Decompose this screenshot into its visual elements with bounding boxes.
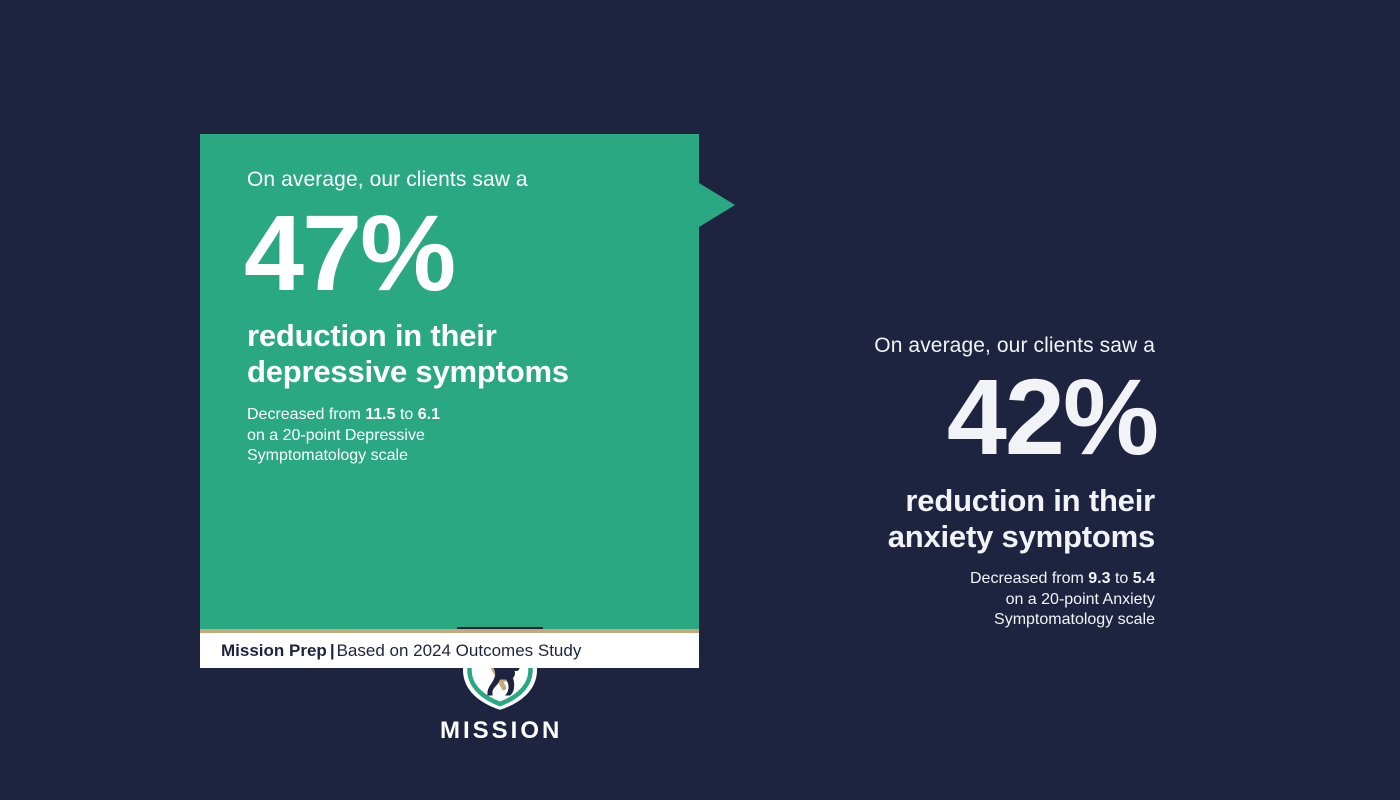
anxiety-headline: reduction in their anxiety symptoms [755, 483, 1155, 555]
headline-line-2: depressive symptoms [247, 354, 569, 389]
mission-prep-wordmark: MISSION PREP [440, 718, 560, 759]
depression-stat-value: 47% [244, 201, 699, 305]
card-kicker: On average, our clients saw a [247, 168, 699, 192]
depression-headline: reduction in their depressive symptoms [247, 318, 699, 390]
detail-middle: to [396, 406, 418, 423]
wordmark-prep: PREP [442, 742, 560, 759]
right-detail-suffix-line-1: on a 20-point Anxiety [1006, 591, 1155, 608]
headline-line-1: reduction in their [247, 318, 497, 353]
right-headline-line-2: anxiety symptoms [888, 519, 1155, 554]
detail-suffix-line-2: Symptomatology scale [247, 447, 408, 464]
footer-attribution: Mission Prep|Based on 2024 Outcomes Stud… [221, 642, 581, 660]
arrow-right-green-icon [699, 183, 735, 227]
depression-stat-card: On average, our clients saw a 47% reduct… [200, 134, 699, 668]
detail-prefix: Decreased from [247, 406, 365, 423]
detail-suffix-line-1: on a 20-point Depressive [247, 427, 425, 444]
right-detail-middle: to [1111, 570, 1133, 587]
right-detail-prefix: Decreased from [970, 570, 1088, 587]
right-headline-line-1: reduction in their [905, 483, 1155, 518]
footer-separator: | [327, 641, 337, 660]
anxiety-stat-block: On average, our clients saw a 42% reduct… [755, 334, 1155, 631]
right-detail-to-value: 5.4 [1133, 570, 1155, 587]
footer-brand: Mission Prep [221, 641, 327, 660]
card-footer: Mission Prep|Based on 2024 Outcomes Stud… [200, 633, 699, 668]
right-detail-suffix-line-2: Symptomatology scale [994, 611, 1155, 628]
wordmark-mission: MISSION [440, 718, 560, 743]
right-kicker: On average, our clients saw a [755, 334, 1155, 358]
detail-from-value: 11.5 [365, 406, 395, 423]
depression-detail: Decreased from 11.5 to 6.1 on a 20-point… [247, 405, 699, 467]
anxiety-detail: Decreased from 9.3 to 5.4 on a 20-point … [755, 569, 1155, 631]
right-detail-from-value: 9.3 [1088, 570, 1110, 587]
footer-note: Based on 2024 Outcomes Study [337, 641, 582, 660]
card-content: On average, our clients saw a 47% reduct… [200, 134, 699, 629]
detail-to-value: 6.1 [418, 406, 440, 423]
anxiety-stat-value: 42% [755, 365, 1157, 469]
infographic-canvas: On average, our clients saw a 47% reduct… [0, 0, 1400, 800]
